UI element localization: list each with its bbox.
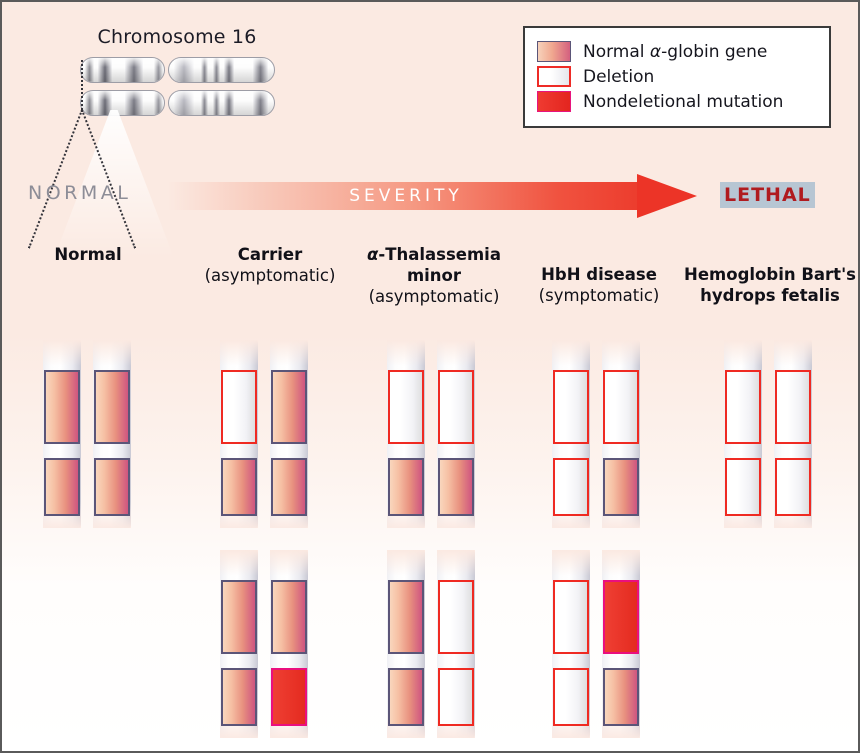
gene-block-normal (388, 580, 424, 654)
gene-block-nondeletional-mutation (271, 668, 307, 726)
chromatid-long-arm (168, 90, 275, 116)
gene-block-deletion (725, 370, 761, 444)
gene-block-deletion (388, 370, 424, 444)
gene-block-normal (603, 668, 639, 726)
chromosome-bar (43, 340, 81, 528)
column-title-hemoglobin-barts-second-line: hydrops fetalis (680, 285, 860, 306)
band (154, 91, 163, 115)
band (174, 91, 194, 115)
gene-block-deletion (553, 580, 589, 654)
column-title-hbh-disease: HbH disease (520, 264, 678, 285)
chromosome-bar (220, 550, 258, 738)
gene-block-normal (603, 458, 639, 516)
gene-block-normal (221, 668, 257, 726)
column-subtitle-alpha-thalassemia-minor: (asymptomatic) (355, 286, 513, 307)
legend: Normal α-globin gene Deletion Nondeletio… (523, 26, 831, 128)
band (224, 58, 234, 82)
gene-block-deletion (775, 370, 811, 444)
band (174, 58, 194, 82)
chromosome-bar (270, 550, 308, 738)
gene-block-normal (44, 370, 80, 444)
column-heading-normal: Normal (18, 244, 158, 265)
chromatid-short-arm (80, 57, 165, 83)
legend-item-nondeletional-mutation: Nondeletional mutation (537, 91, 817, 112)
column-subtitle-hbh-disease: (symptomatic) (520, 285, 678, 306)
chromatid-long-arm (168, 57, 275, 83)
chromosome-bar (93, 340, 131, 528)
band (253, 58, 268, 82)
genotype-pair-hbh-disease-row2 (552, 550, 642, 738)
band (201, 91, 208, 115)
legend-item-deletion: Deletion (537, 66, 817, 87)
genotype-pair-carrier-row2 (220, 550, 310, 738)
chromosome-bar (437, 550, 475, 738)
band (125, 91, 143, 115)
chromosome-bar (602, 550, 640, 738)
gene-block-deletion (438, 370, 474, 444)
gene-block-normal (44, 458, 80, 516)
nondeletional-mutation-swatch (537, 91, 571, 112)
band (213, 91, 220, 115)
severity-axis-normal-label: NORMAL (28, 182, 131, 204)
gene-block-deletion (438, 580, 474, 654)
normal-gene-swatch (537, 41, 571, 62)
band (85, 58, 94, 82)
band (224, 91, 234, 115)
chromosome-bar (552, 340, 590, 528)
gene-block-deletion (603, 370, 639, 444)
legend-label-nondeletional-mutation: Nondeletional mutation (583, 92, 783, 112)
chromosome-bar (387, 550, 425, 738)
severity-arrow: SEVERITY (167, 174, 697, 218)
column-heading-hemoglobin-barts: Hemoglobin Bart's hydrops fetalis (680, 264, 860, 306)
leader-line-vertical (81, 60, 83, 110)
genotype-pair-normal-row1 (43, 340, 133, 528)
band (213, 58, 220, 82)
band (85, 91, 94, 115)
band (201, 58, 208, 82)
chromosome-bar (437, 340, 475, 528)
gene-block-deletion (553, 668, 589, 726)
chromosome-bar (774, 340, 812, 528)
gene-block-normal (271, 370, 307, 444)
gene-block-deletion (725, 458, 761, 516)
chromosome-bar (602, 340, 640, 528)
band (125, 58, 143, 82)
column-title-normal: Normal (18, 244, 158, 265)
legend-label-deletion: Deletion (583, 67, 654, 87)
chromosome-bar (270, 340, 308, 528)
gene-block-deletion (438, 668, 474, 726)
alpha-thalassemia-genotype-figure: Chromosome 16 (0, 0, 860, 753)
gene-block-normal (94, 370, 130, 444)
column-heading-alpha-thalassemia-minor: α-Thalassemiaminor (asymptomatic) (355, 244, 513, 307)
genotype-pair-hemoglobin-barts-row1 (724, 340, 814, 528)
genotype-pair-hbh-disease-row1 (552, 340, 642, 528)
legend-item-normal-gene: Normal α-globin gene (537, 41, 817, 62)
band (98, 58, 112, 82)
gene-block-normal (221, 580, 257, 654)
chromatid-row (80, 57, 275, 83)
severity-axis-label: SEVERITY (167, 182, 645, 210)
band (154, 58, 163, 82)
gene-block-deletion (553, 370, 589, 444)
genotype-pair-alpha-thalassemia-minor-row1 (387, 340, 477, 528)
chromosome-bar (552, 550, 590, 738)
gene-block-normal (94, 458, 130, 516)
column-title-hemoglobin-barts: Hemoglobin Bart's (680, 264, 860, 285)
column-subtitle-carrier: (asymptomatic) (190, 265, 350, 286)
genotype-pair-alpha-thalassemia-minor-row2 (387, 550, 477, 738)
gene-block-deletion (775, 458, 811, 516)
band (253, 91, 268, 115)
chromosome-bar (724, 340, 762, 528)
gene-block-normal (271, 580, 307, 654)
gene-block-normal (388, 458, 424, 516)
gene-block-normal (438, 458, 474, 516)
legend-label-normal-gene: Normal α-globin gene (583, 42, 767, 62)
deletion-swatch (537, 66, 571, 87)
gene-block-deletion (221, 370, 257, 444)
column-heading-hbh-disease: HbH disease (symptomatic) (520, 264, 678, 306)
chromosome-bar (220, 340, 258, 528)
severity-arrow-head (637, 174, 697, 218)
column-heading-carrier: Carrier (asymptomatic) (190, 244, 350, 286)
severity-axis-lethal-label: LETHAL (720, 182, 815, 208)
gene-block-nondeletional-mutation (603, 580, 639, 654)
gene-block-normal (221, 458, 257, 516)
gene-block-deletion (553, 458, 589, 516)
chromatid-row (80, 90, 275, 116)
gene-block-normal (271, 458, 307, 516)
column-title-alpha-thalassemia-minor: α-Thalassemiaminor (355, 244, 513, 286)
chromosome-bar (387, 340, 425, 528)
genotype-pair-carrier-row1 (220, 340, 310, 528)
gene-block-normal (388, 668, 424, 726)
chromatid-short-arm (80, 90, 165, 116)
chromosome-caption: Chromosome 16 (62, 26, 292, 48)
column-title-carrier: Carrier (190, 244, 350, 265)
